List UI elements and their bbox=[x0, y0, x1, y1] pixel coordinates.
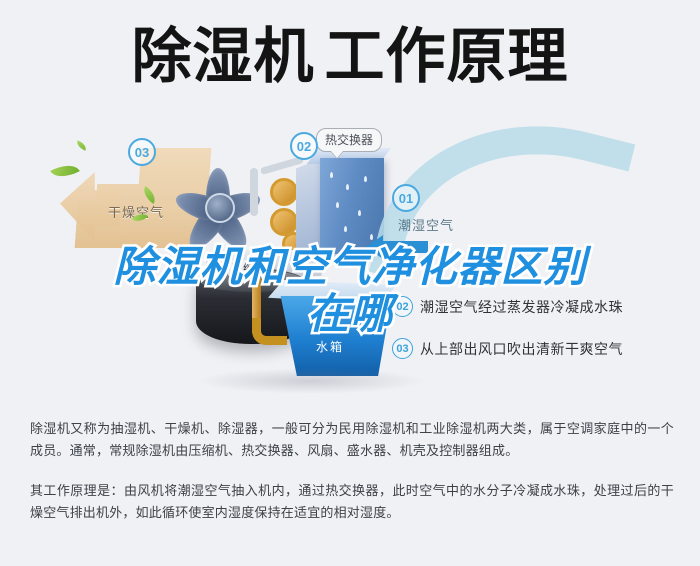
paragraph-1: 除湿机又称为抽湿机、干燥机、除湿器，一般可分为民用除湿机和工业除湿机两大类，属于… bbox=[30, 418, 674, 462]
legend-item: 03 从上部出风口吹出清新干爽空气 bbox=[392, 338, 692, 359]
title-part-1: 除湿机 bbox=[132, 23, 315, 90]
pipe bbox=[250, 168, 258, 216]
infographic-page: 除湿机工作原理 干燥空气 03 bbox=[0, 0, 700, 566]
legend-item: 02 潮湿空气经过蒸发器冷凝成水珠 bbox=[392, 296, 692, 317]
leaf-icon bbox=[50, 159, 80, 184]
fan-hub bbox=[205, 193, 235, 223]
legend-label: 从上部出风口吹出清新干爽空气 bbox=[420, 339, 623, 359]
leaf-icon bbox=[75, 140, 88, 150]
legend-label: 潮湿空气经过蒸发器冷凝成水珠 bbox=[420, 297, 623, 317]
compressor-label: 压缩机 bbox=[228, 260, 270, 276]
article-body: 除湿机又称为抽湿机、干燥机、除湿器，一般可分为民用除湿机和工业除湿机两大类，属于… bbox=[30, 418, 674, 524]
legend-number: 03 bbox=[392, 338, 413, 359]
drain-tube-icon bbox=[252, 278, 261, 336]
water-tank-icon bbox=[276, 296, 392, 376]
legend-number: 02 bbox=[392, 296, 413, 317]
water-tank-label: 水箱 bbox=[316, 338, 344, 355]
heat-exchanger-callout: 热交换器 bbox=[316, 128, 382, 152]
legend-list: 02 潮湿空气经过蒸发器冷凝成水珠 03 从上部出风口吹出清新干爽空气 bbox=[392, 296, 692, 380]
paragraph-2: 其工作原理是：由风机将潮湿空气抽入机内，通过热交换器，此时空气中的水分子冷凝成水… bbox=[30, 480, 674, 524]
coil-ring bbox=[270, 178, 298, 206]
page-title: 除湿机工作原理 bbox=[0, 22, 700, 92]
title-part-2: 工作原理 bbox=[325, 23, 569, 90]
marker-02: 02 bbox=[290, 132, 318, 160]
marker-01: 01 bbox=[392, 184, 420, 212]
heat-exchanger-side bbox=[296, 158, 322, 265]
marker-03: 03 bbox=[128, 138, 156, 166]
humid-air-inlet-arrow-icon bbox=[382, 241, 428, 253]
humid-air-label: 潮湿空气 bbox=[398, 215, 454, 234]
